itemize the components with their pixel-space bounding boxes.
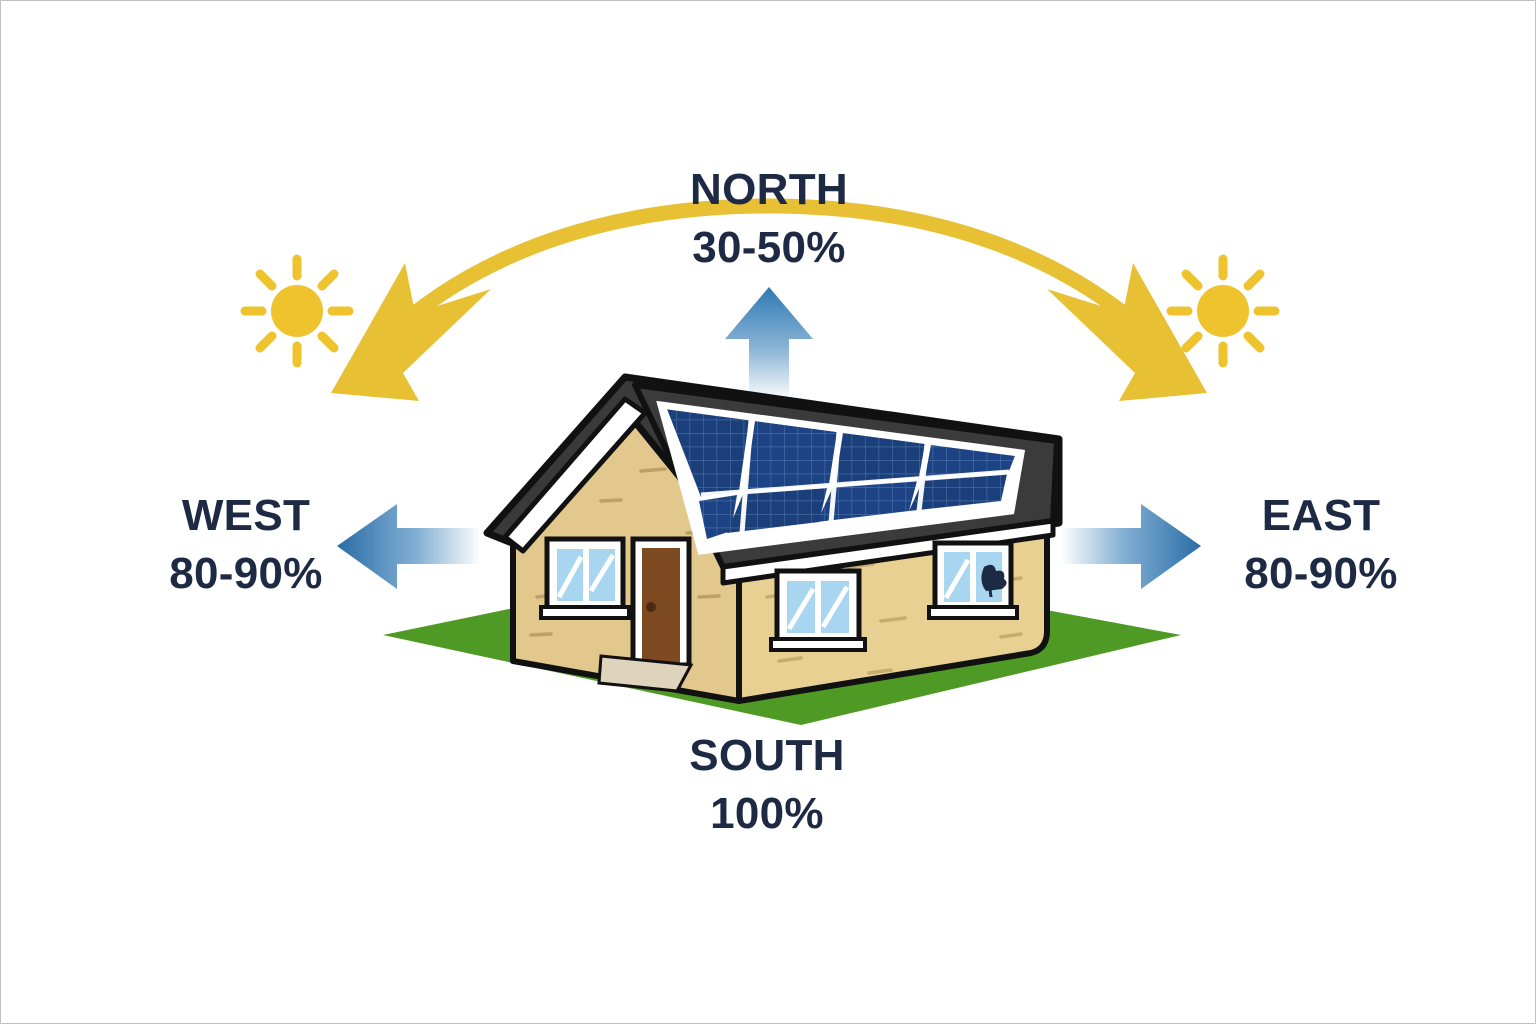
arrow-right-icon (1061, 504, 1201, 589)
label-north-name: NORTH (609, 161, 929, 219)
label-south: SOUTH 100% (637, 727, 897, 843)
label-south-value: 100% (637, 785, 897, 843)
label-north: NORTH 30-50% (609, 161, 929, 277)
label-east-name: EAST (1181, 487, 1461, 545)
label-north-value: 30-50% (609, 219, 929, 277)
sun-icon-left (245, 259, 349, 363)
window-side-2 (929, 543, 1017, 618)
label-west-name: WEST (121, 487, 371, 545)
label-east: EAST 80-90% (1181, 487, 1461, 603)
label-west: WEST 80-90% (121, 487, 371, 603)
arrow-up-icon (725, 287, 813, 401)
front-door (633, 539, 689, 665)
sun-icon-right (1171, 259, 1275, 363)
label-east-value: 80-90% (1181, 545, 1461, 603)
label-south-name: SOUTH (637, 727, 897, 785)
house-illustration (487, 377, 1059, 701)
window-side-1 (771, 571, 865, 650)
window-front (541, 539, 629, 618)
diagram-canvas: NORTH 30-50% SOUTH 100% WEST 80-90% EAST… (0, 0, 1536, 1024)
label-west-value: 80-90% (121, 545, 371, 603)
